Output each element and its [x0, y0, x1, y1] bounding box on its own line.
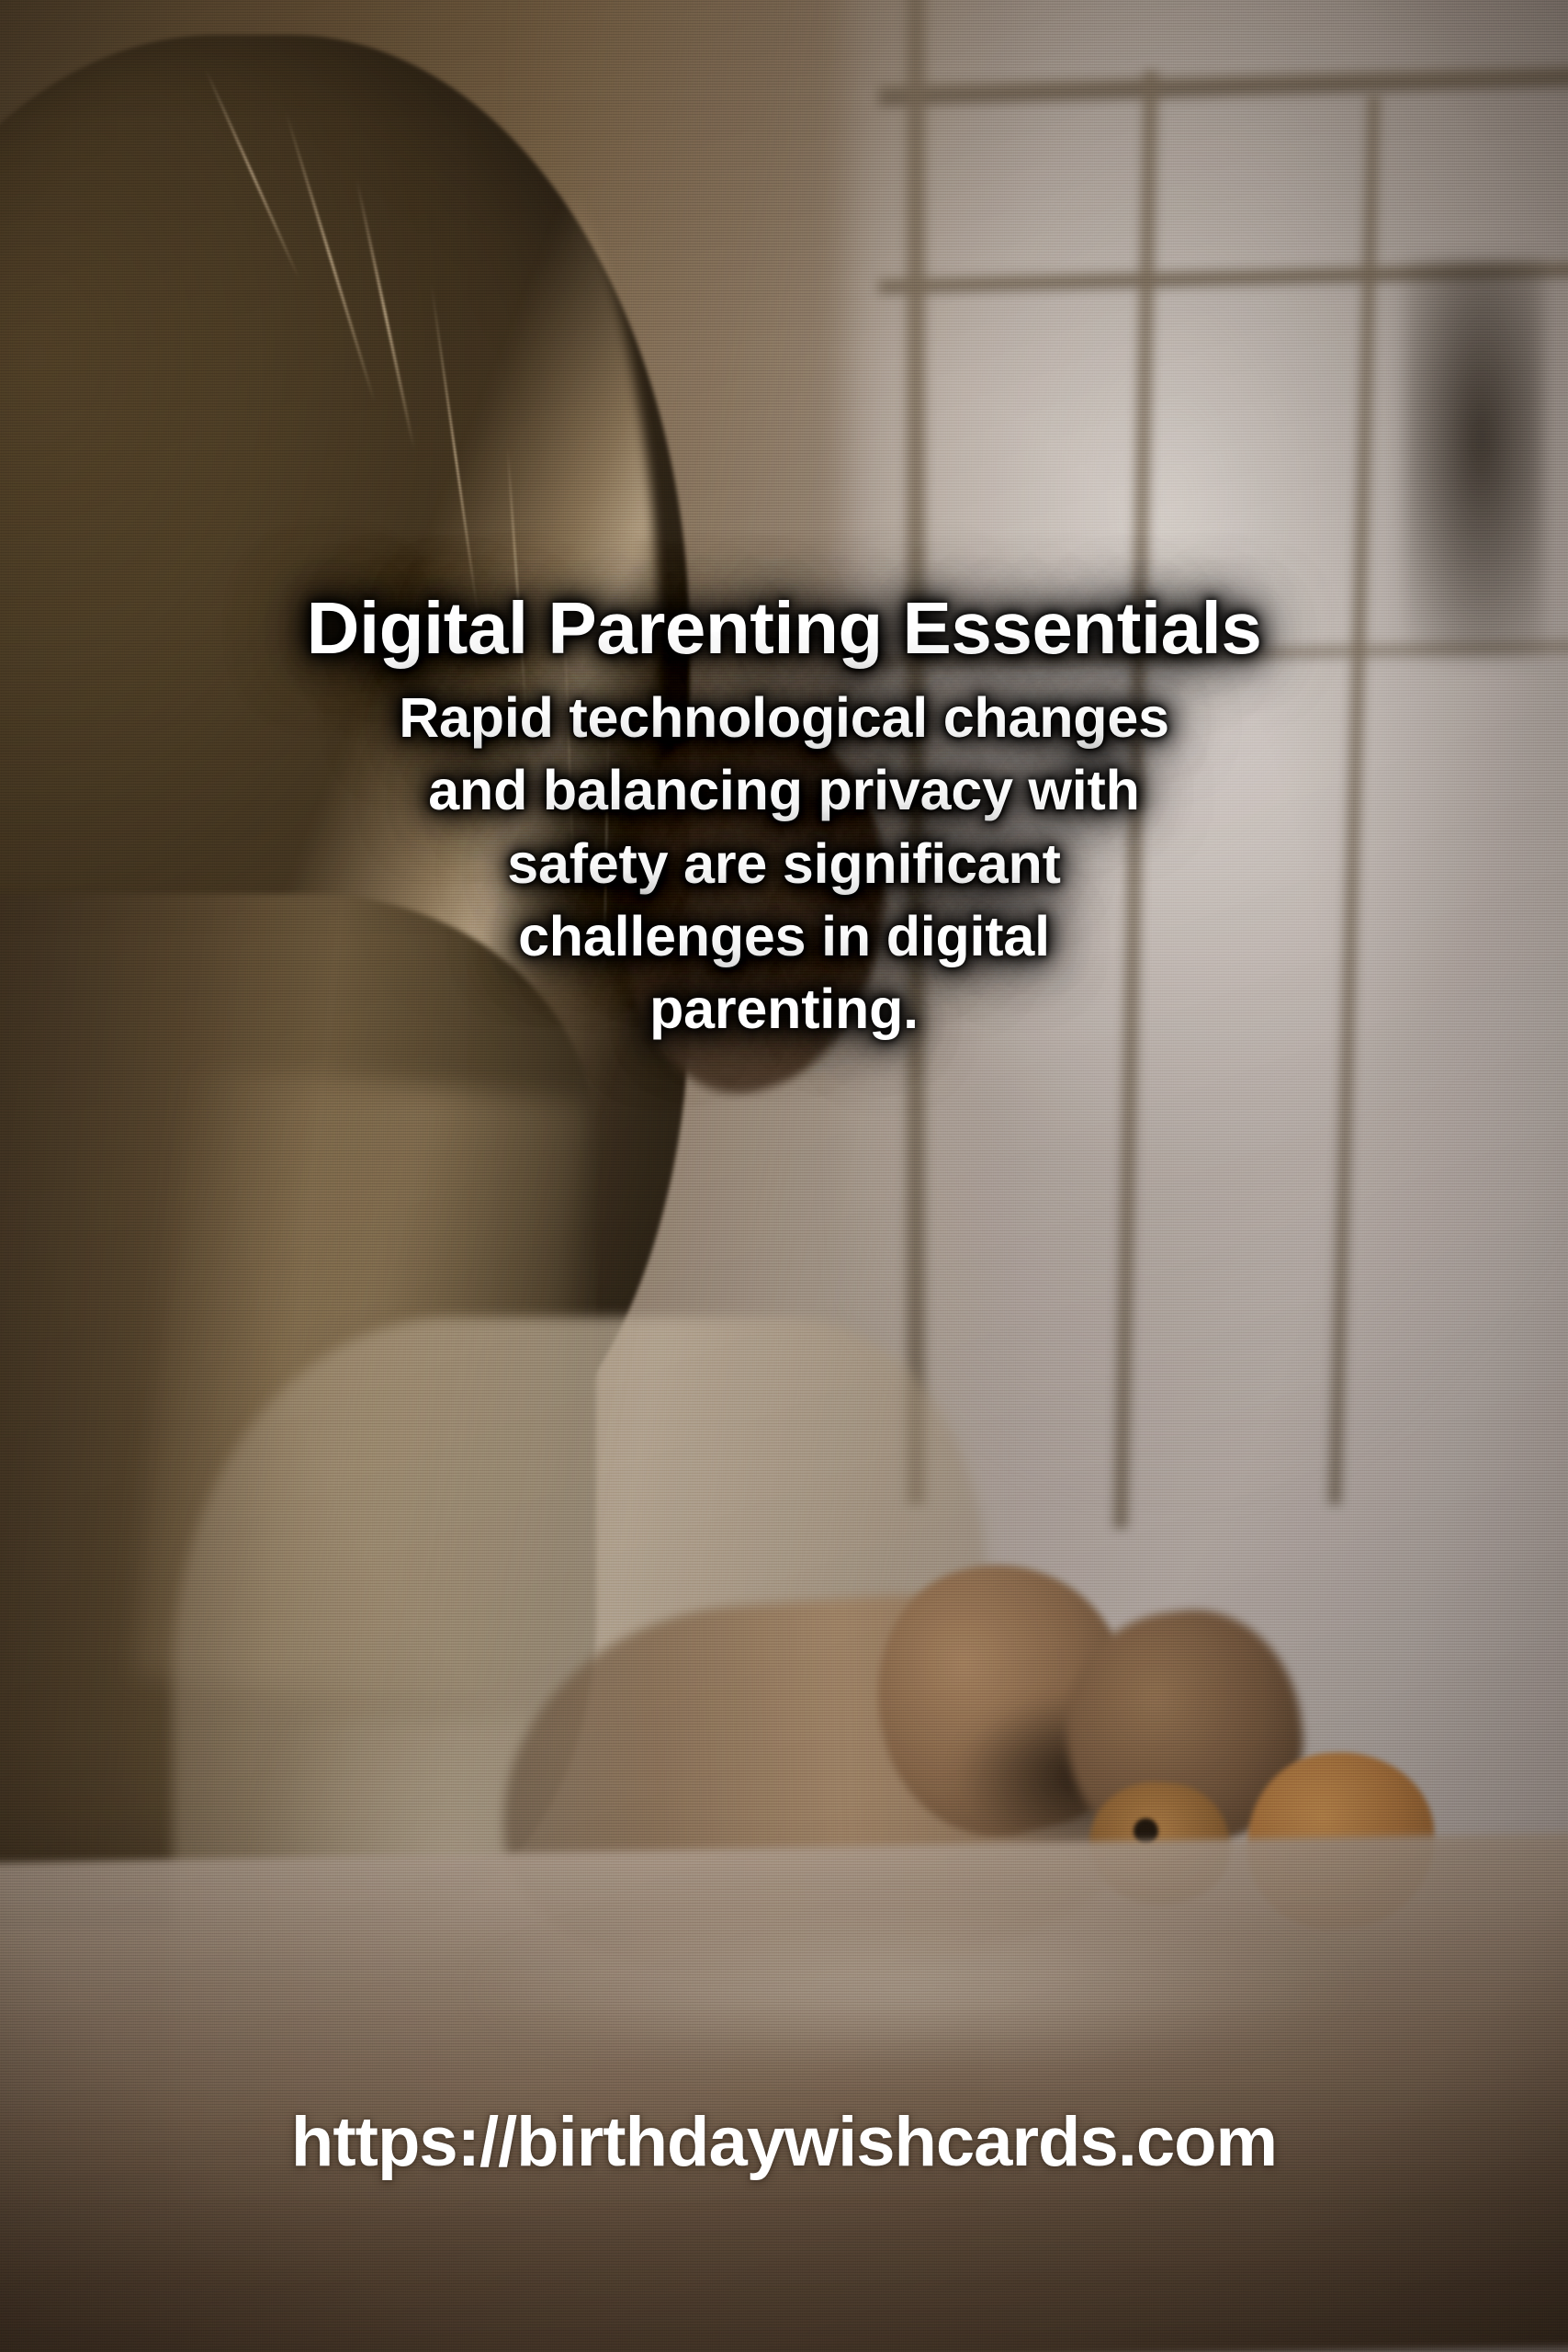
social-share-card: Digital Parenting Essentials Rapid techn…	[0, 0, 1568, 2352]
vignette	[0, 0, 1568, 2352]
background-photo	[0, 0, 1568, 2352]
